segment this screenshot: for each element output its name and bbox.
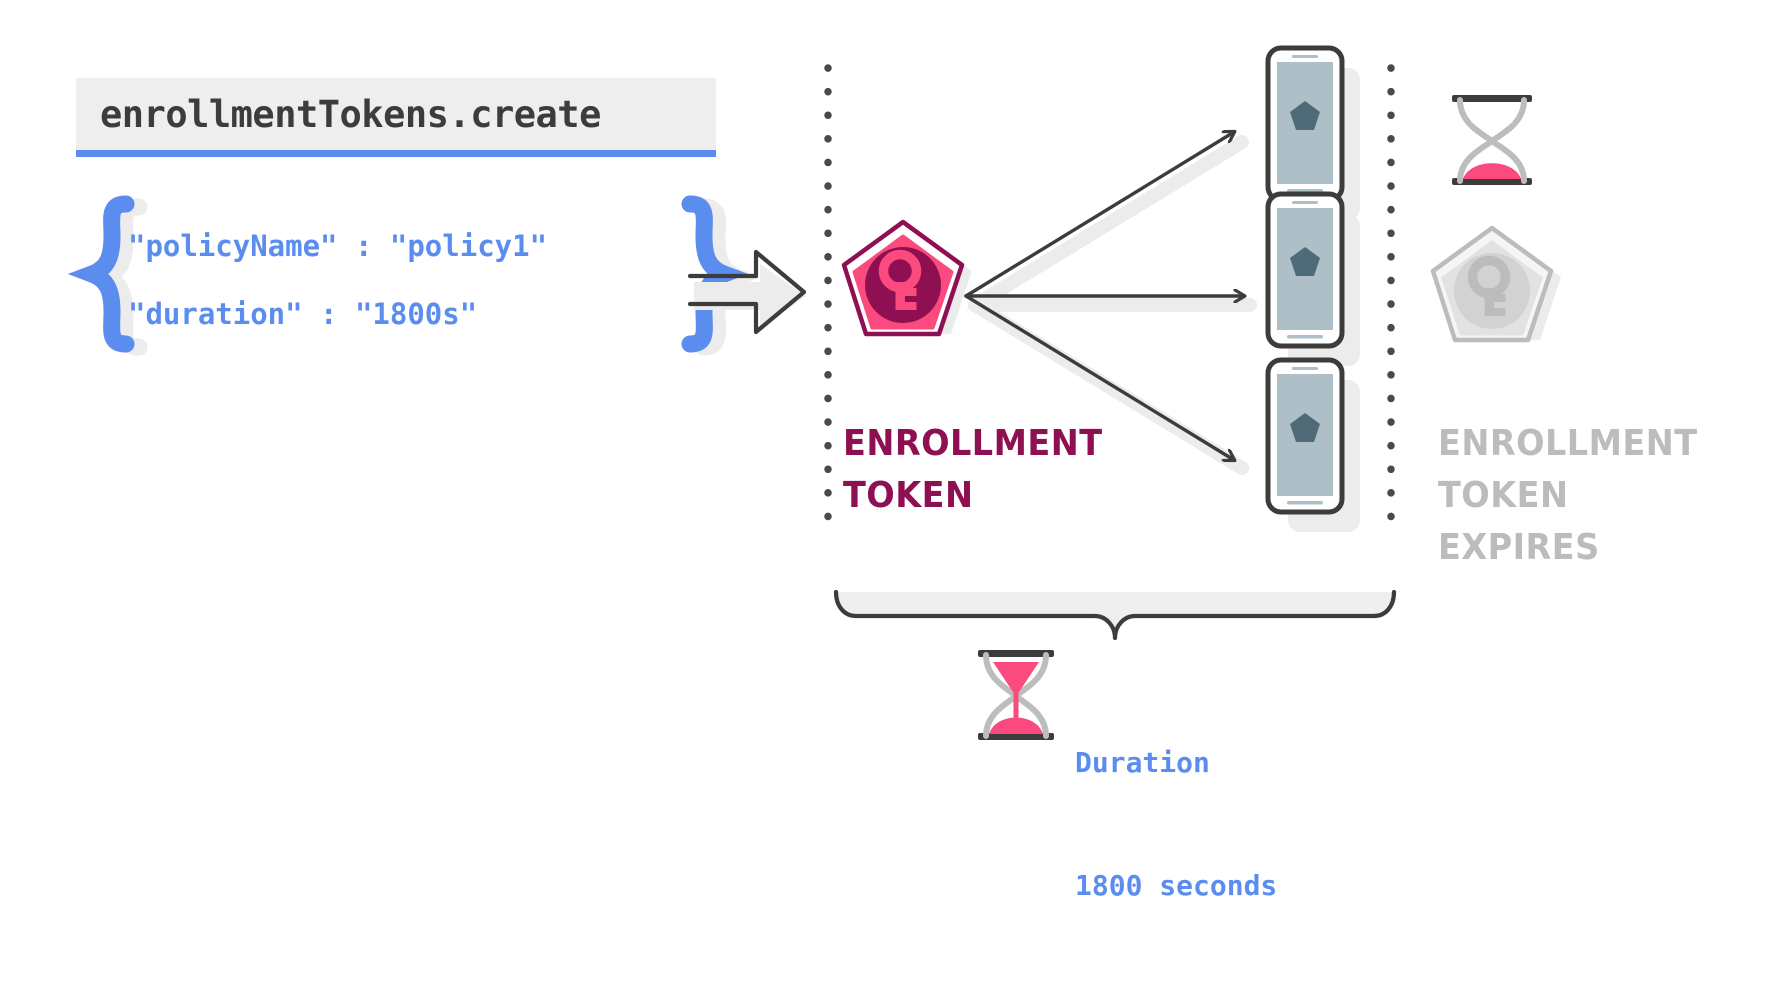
enrollment-expires-label-line: EXPIRES (1438, 522, 1697, 574)
duration-label-value: 1800 seconds (1075, 865, 1277, 906)
enrollment-token-label-line: ENROLLMENT (843, 418, 1102, 470)
device-phone-2 (1268, 194, 1360, 366)
request-body-block: "policyName" : "policy1" "duration" : "1… (76, 196, 736, 352)
duration-span-brace (836, 592, 1394, 638)
request-body-lines: "policyName" : "policy1" "duration" : "1… (128, 212, 547, 348)
device-phone-1 (1268, 48, 1360, 220)
pentagon-badge-icon (1290, 413, 1320, 442)
pentagon-badge-icon (1290, 247, 1320, 276)
close-brace-icon (674, 196, 730, 352)
device-phone-3 (1268, 360, 1360, 532)
request-body-line: "duration" : "1800s" (128, 280, 547, 348)
api-method-title: enrollmentTokens.create (76, 93, 601, 136)
duration-label-title: Duration (1075, 742, 1277, 783)
enrollment-expires-label-line: TOKEN (1438, 470, 1697, 522)
enrollment-expires-label-line: ENROLLMENT (1438, 418, 1697, 470)
api-method-box: enrollmentTokens.create (76, 78, 716, 150)
enrollment-token-label-line: TOKEN (843, 470, 1102, 522)
key-icon (884, 255, 917, 311)
api-method-underline (76, 150, 716, 157)
hourglass-icon-duration (978, 650, 1054, 740)
diagram-canvas: enrollmentTokens.create "policyName" : "… (0, 0, 1789, 795)
hourglass-icon-top (1452, 95, 1532, 185)
distribution-arrows (966, 132, 1244, 460)
enrollment-token-expires-label: ENROLLMENT TOKEN EXPIRES (1438, 418, 1717, 574)
expired-token-icon (1433, 228, 1561, 340)
key-icon-disabled (1473, 261, 1506, 317)
duration-label: Duration 1800 seconds (1075, 660, 1277, 988)
enrollment-token-label: ENROLLMENT TOKEN (843, 418, 1122, 522)
request-body-line: "policyName" : "policy1" (128, 212, 547, 280)
pentagon-badge-icon (1290, 101, 1320, 130)
enrollment-token-icon (844, 222, 972, 334)
